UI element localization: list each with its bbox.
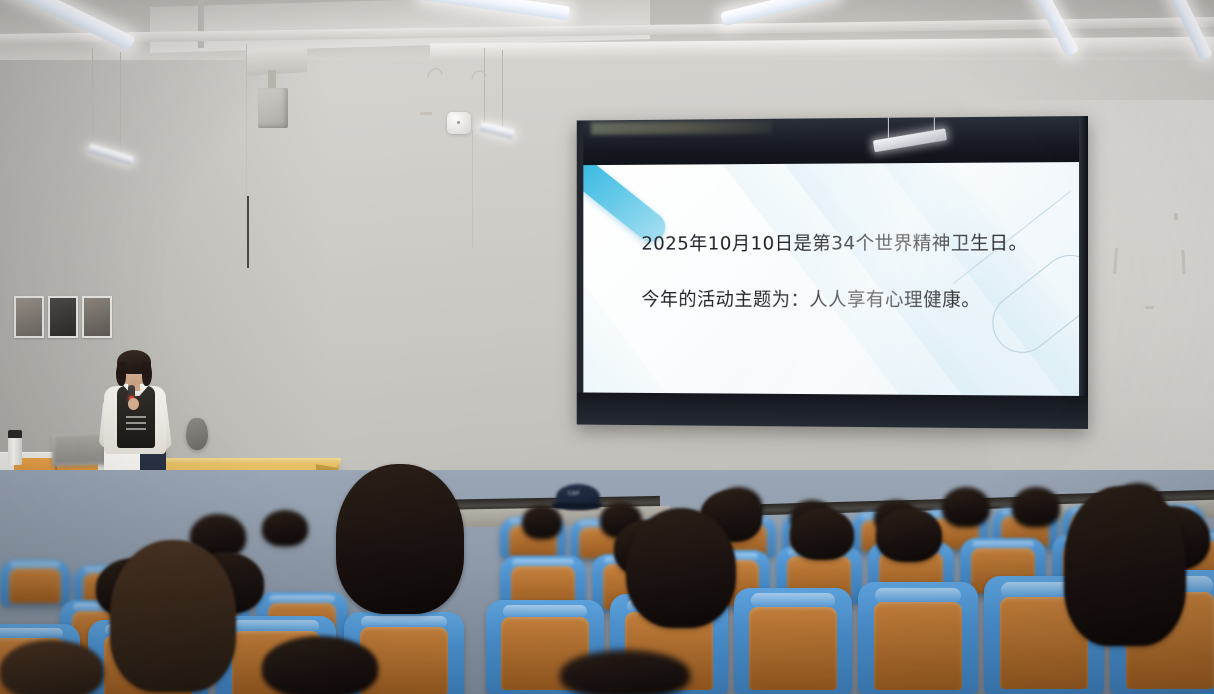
water-bottle-cap: [8, 430, 22, 438]
lamp-suspension-wire: [484, 48, 485, 128]
hanging-cord: [472, 130, 473, 248]
framed-picture: [82, 296, 112, 338]
slide-text-block: 2025年10月10日是第34个世界精神卫生日。 今年的活动主题为：人人享有心理…: [641, 232, 1048, 312]
student-head: [262, 510, 308, 546]
student-head: [790, 508, 854, 560]
reflected-lamp-wire: [888, 118, 889, 138]
cap-brim: [552, 503, 602, 509]
projector-unit-icon: [258, 88, 288, 128]
presenter-hair-side: [142, 362, 152, 386]
lamp-suspension-wire: [502, 50, 503, 130]
student-head: [1012, 487, 1060, 527]
wall-picture-frames: [14, 296, 110, 336]
reflected-hanging-lamp: [873, 128, 947, 152]
wall-mark: [420, 112, 432, 115]
cap-text: CAP: [568, 491, 580, 497]
student-head: [110, 540, 236, 692]
lecture-hall-photo: 2025年10月10日是第34个世界精神卫生日。 今年的活动主题为：人人享有心理…: [0, 0, 1214, 694]
presenter-hair-side: [116, 362, 126, 386]
slide-line-1: 2025年10月10日是第34个世界精神卫生日。: [641, 232, 1048, 256]
student-head-foreground: [336, 464, 464, 614]
lamp-suspension-wire: [120, 52, 121, 152]
auditorium-seat[interactable]: [734, 588, 852, 694]
wall-fixture-plate: [186, 418, 208, 450]
hanging-cable: [247, 196, 249, 268]
student-head: [1064, 486, 1186, 646]
water-bottle: [8, 435, 22, 465]
wall-mark: [1174, 213, 1178, 220]
student-head: [522, 505, 562, 539]
projector-ceiling-mount: [247, 46, 307, 76]
student-head: [626, 508, 736, 628]
screen-bezel-top: [577, 116, 1088, 165]
student-head: [560, 650, 690, 694]
framed-picture: [14, 296, 44, 338]
student-head: [0, 640, 104, 694]
screen-bezel-right: [1079, 116, 1088, 429]
auditorium-seat[interactable]: [858, 582, 978, 694]
wall-mark: [1145, 306, 1154, 309]
wall-sensor-led: [457, 121, 460, 124]
bezel-reflection: [591, 121, 772, 135]
student-head: [942, 487, 990, 527]
projection-screen[interactable]: 2025年10月10日是第34个世界精神卫生日。 今年的活动主题为：人人享有心理…: [577, 116, 1088, 429]
student-head: [876, 508, 942, 562]
screen-bezel-bottom: [577, 392, 1088, 429]
slide-canvas: 2025年10月10日是第34个世界精神卫生日。 今年的活动主题为：人人享有心理…: [583, 162, 1079, 396]
presenter-hand: [128, 398, 139, 410]
lamp-suspension-wire: [92, 48, 93, 153]
presenter-vest-print: [126, 412, 146, 430]
slide-line-2: 今年的活动主题为：人人享有心理健康。: [641, 289, 1048, 313]
student-head: [262, 636, 378, 694]
framed-picture: [48, 296, 78, 338]
